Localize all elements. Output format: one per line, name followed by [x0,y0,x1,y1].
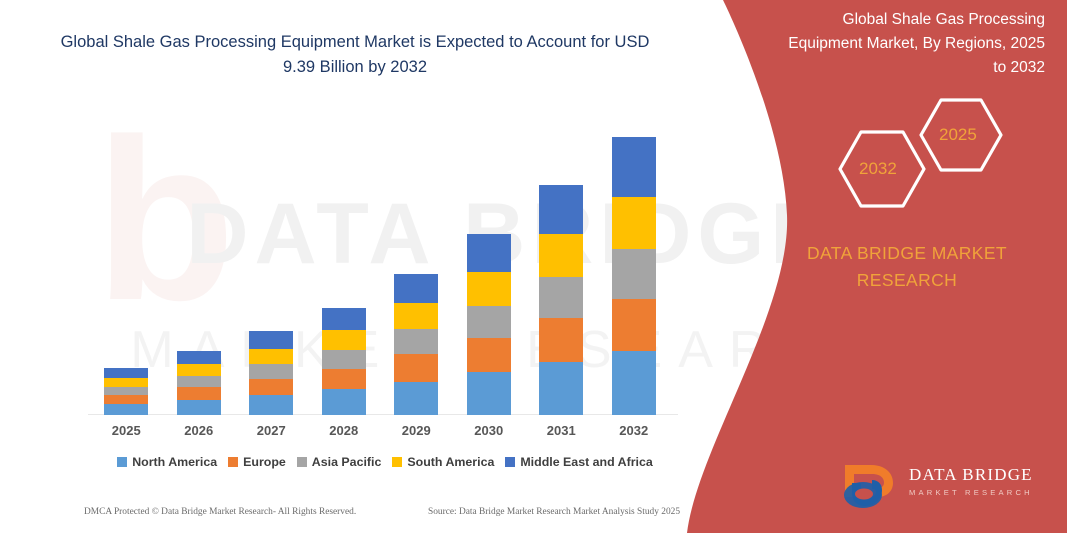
bar-segment[interactable] [539,318,583,362]
brand-name: DATA BRIDGE MARKET RESEARCH [767,240,1047,294]
infographic-canvas: b DATA BRIDGE MARKET RESEARCH Global Sha… [0,0,1067,533]
legend-item-south-america[interactable]: South America [392,455,494,469]
brand-name-line2: RESEARCH [857,270,957,290]
bar-segment[interactable] [612,137,656,197]
bar-segment[interactable] [467,372,511,415]
legend-swatch-icon [505,457,515,467]
bar-segment[interactable] [539,234,583,278]
bar-segment[interactable] [467,338,511,372]
bar-segment[interactable] [322,308,366,330]
hexagon-2032-label: 2032 [859,159,897,179]
legend-swatch-icon [392,457,402,467]
bar-segment[interactable] [612,197,656,249]
x-tick-2027: 2027 [236,423,306,438]
x-axis-tick-labels: 20252026202720282029203020312032 [90,423,670,445]
x-tick-2031: 2031 [526,423,596,438]
bar-column-2026[interactable] [177,351,221,415]
legend-item-north-america[interactable]: North America [117,455,217,469]
bar-segment[interactable] [249,331,293,348]
bar-segment[interactable] [177,364,221,376]
legend-item-asia-pacific[interactable]: Asia Pacific [297,455,382,469]
legend-label: Europe [243,455,286,469]
logo-secondary-text: MARKET RESEARCH [909,488,1033,497]
bar-segment[interactable] [394,274,438,304]
footer: DMCA Protected © Data Bridge Market Rese… [0,505,700,527]
x-tick-2026: 2026 [164,423,234,438]
bar-segment[interactable] [322,330,366,350]
bar-segment[interactable] [322,350,366,369]
bar-segment[interactable] [249,364,293,378]
x-tick-2025: 2025 [91,423,161,438]
legend-swatch-icon [297,457,307,467]
x-tick-2030: 2030 [454,423,524,438]
legend-label: Asia Pacific [312,455,382,469]
hexagon-2025-label: 2025 [939,125,977,145]
hexagon-group: 2025 2032 [823,92,1033,212]
bar-segment[interactable] [394,303,438,329]
bar-segment[interactable] [249,349,293,364]
footer-copyright: DMCA Protected © Data Bridge Market Rese… [84,507,356,517]
data-bridge-b-mark-icon [841,461,903,511]
hexagon-outlines [823,92,1033,212]
bar-segment[interactable] [104,395,148,404]
bar-column-2031[interactable] [539,185,583,415]
bar-segment[interactable] [177,376,221,387]
bar-segment[interactable] [467,306,511,338]
bar-segment[interactable] [104,387,148,395]
bar-segment[interactable] [249,379,293,395]
bar-segment[interactable] [177,400,221,415]
bar-column-2027[interactable] [249,331,293,415]
bar-column-2029[interactable] [394,274,438,415]
bar-segment[interactable] [394,354,438,381]
bar-segment[interactable] [539,277,583,318]
legend-item-middle-east-and-africa[interactable]: Middle East and Africa [505,455,652,469]
legend-swatch-icon [117,457,127,467]
bar-segment[interactable] [249,395,293,415]
bar-segment[interactable] [467,272,511,306]
stacked-bar-chart [90,120,670,415]
bar-segment[interactable] [612,351,656,415]
bar-segment[interactable] [177,387,221,399]
bar-segment[interactable] [104,368,148,378]
legend-label: South America [407,455,494,469]
chart-legend: North AmericaEuropeAsia PacificSouth Ame… [90,455,680,469]
page-title: Global Shale Gas Processing Equipment Ma… [55,30,655,80]
x-tick-2028: 2028 [309,423,379,438]
brand-name-line1: DATA BRIDGE MARKET [807,243,1007,263]
bar-column-2025[interactable] [104,368,148,415]
bar-segment[interactable] [322,389,366,415]
bar-segment[interactable] [612,249,656,299]
bar-segment[interactable] [394,329,438,354]
footer-source: Source: Data Bridge Market Research Mark… [428,507,680,517]
brand-panel: Global Shale Gas Processing Equipment Ma… [687,0,1067,533]
company-logo: DATA BRIDGE MARKET RESEARCH [841,461,1051,513]
bar-segment[interactable] [539,362,583,415]
legend-swatch-icon [228,457,238,467]
legend-label: Middle East and Africa [520,455,652,469]
bar-column-2028[interactable] [322,308,366,415]
legend-item-europe[interactable]: Europe [228,455,286,469]
bar-segment[interactable] [394,382,438,415]
bar-segment[interactable] [612,299,656,351]
chart-panel: Global Shale Gas Processing Equipment Ma… [0,0,720,533]
logo-primary-text: DATA BRIDGE [909,465,1033,485]
bar-segment[interactable] [104,404,148,415]
bar-column-2032[interactable] [612,137,656,415]
bar-segment[interactable] [322,369,366,390]
bar-segment[interactable] [467,234,511,272]
bar-segment[interactable] [104,378,148,387]
x-tick-2032: 2032 [599,423,669,438]
bar-column-2030[interactable] [467,234,511,415]
bar-segment[interactable] [539,185,583,234]
x-tick-2029: 2029 [381,423,451,438]
bar-segment[interactable] [177,351,221,364]
legend-label: North America [132,455,217,469]
brand-panel-title: Global Shale Gas Processing Equipment Ma… [783,8,1045,80]
